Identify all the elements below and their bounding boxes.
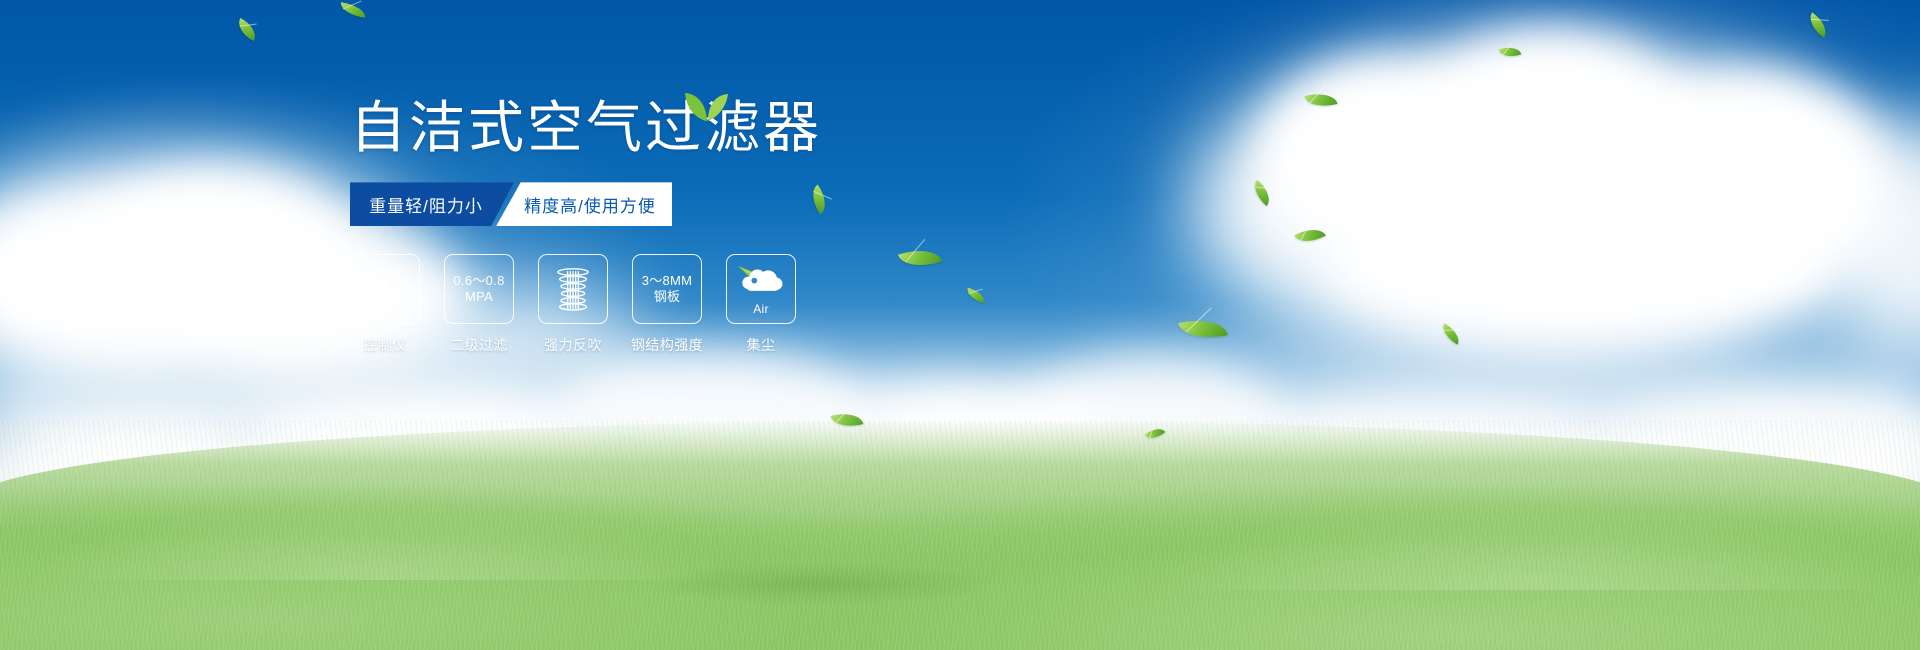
leaf-icon [1804,12,1832,37]
feature-item[interactable]: 0.6～0.8 MPA 二级过滤 [444,254,514,355]
tab-lightweight-lowresistance[interactable]: 重量轻/阻力小 [350,182,514,226]
leaf-icon [339,2,366,18]
gauge-off-label: OFF [395,305,406,311]
steel-plate-text: 钢板 [654,289,681,305]
feature-icon-box: 3～8MM 钢板 [632,254,702,324]
feature-list: NO OFF 控制仪 0.6～0.8 MPA 二级过滤 [350,254,870,355]
gauge-on-label: NO [363,285,372,291]
feature-icon-box [538,254,608,324]
coil-blowback-icon [548,264,598,314]
pressure-range-text: 0.6～0.8 [453,273,504,289]
feature-item[interactable]: 3～8MM 钢板 钢结构强度 [632,254,702,355]
cloud-right-d [1330,190,1830,340]
feature-icon-box: Air [726,254,796,324]
hero-banner: 自洁式空气过滤器 重量轻/阻力小 精度高/使用方便 [0,0,1920,650]
leaf-icon [965,288,987,304]
title-leaf-icon [684,92,730,122]
grass-texture [0,420,1920,650]
feature-label: 二级过滤 [450,335,508,355]
feature-item[interactable]: 强力反吹 [538,254,608,355]
tab-list: 重量轻/阻力小 精度高/使用方便 [350,182,672,226]
feature-label: 控制仪 [363,335,407,355]
pressure-unit-text: MPA [465,289,493,305]
leaf-icon [898,242,942,273]
feature-label: 强力反吹 [544,335,602,355]
feature-icon-box: 0.6～0.8 MPA [444,254,514,324]
feature-label: 集尘 [747,335,776,355]
air-text: Air [753,302,769,317]
feature-icon-box: NO OFF [350,254,420,324]
tab-highprecision-easyuse[interactable]: 精度高/使用方便 [496,182,672,226]
gauge-switch-icon: NO OFF [357,261,413,317]
leaf-icon [234,18,260,41]
feature-item[interactable]: NO OFF 控制仪 [350,254,420,355]
feature-item[interactable]: Air 集尘 [726,254,796,355]
steel-thickness-text: 3～8MM [642,273,693,289]
cloud-air-icon [736,264,786,300]
page-title: 自洁式空气过滤器 [350,96,870,160]
banner-content: 自洁式空气过滤器 重量轻/阻力小 精度高/使用方便 [350,96,870,355]
feature-label: 钢结构强度 [631,335,704,355]
